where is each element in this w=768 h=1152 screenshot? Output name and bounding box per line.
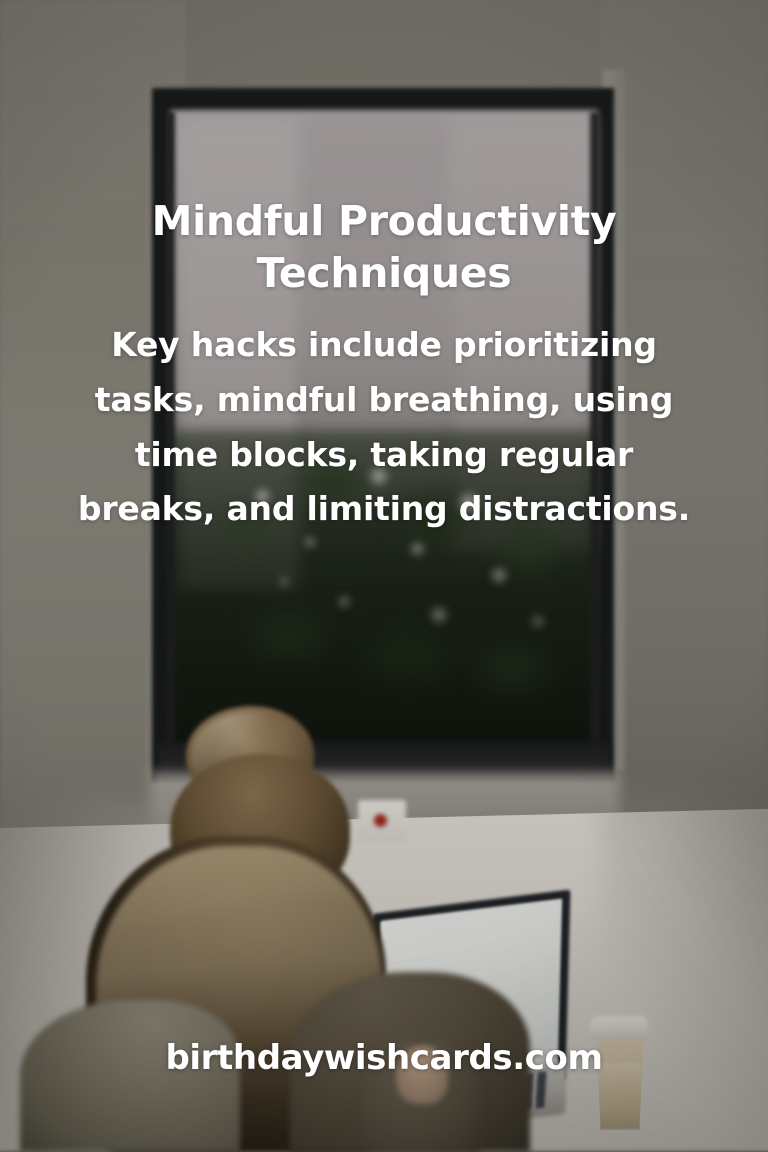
body-text: Key hacks include prioritizing tasks, mi… [74,318,694,537]
page-title: Mindful Productivity Techniques [54,196,714,299]
text-overlay: Mindful Productivity Techniques Key hack… [0,0,768,1152]
social-quote-card: Mindful Productivity Techniques Key hack… [0,0,768,1152]
site-watermark: birthdaywishcards.com [0,1038,768,1078]
